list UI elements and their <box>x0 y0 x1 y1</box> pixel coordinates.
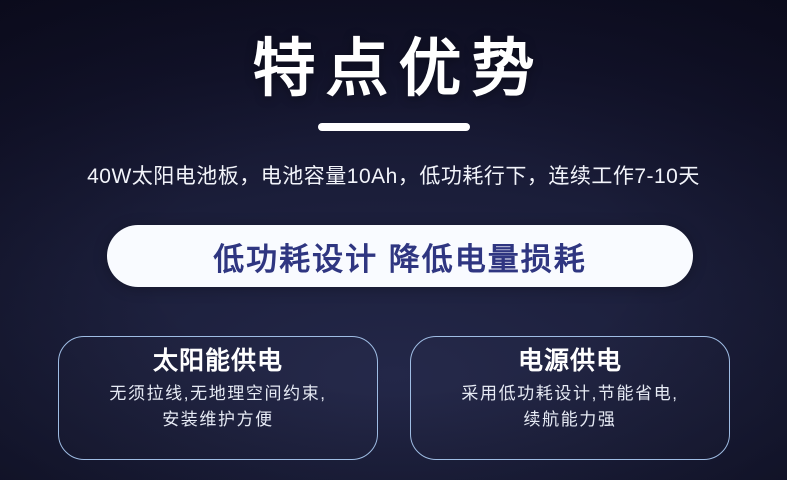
feature-card-title: 电源供电 <box>518 346 622 377</box>
page-title: 特点优势 <box>0 38 787 101</box>
subtitle-text: 40W太阳电池板，电池容量10Ah，低功耗行下，连续工作7-10天 <box>0 163 787 190</box>
feature-card-solar: 太阳能供电 无须拉线,无地理空间约束, 安装维护方便 <box>58 336 378 460</box>
highlight-pill: 低功耗设计 降低电量损耗 <box>107 225 693 287</box>
feature-card-mains: 电源供电 采用低功耗设计,节能省电, 续航能力强 <box>410 336 730 460</box>
title-underline-divider <box>318 123 470 131</box>
feature-card-title: 太阳能供电 <box>153 346 283 377</box>
feature-card-body: 采用低功耗设计,节能省电, 续航能力强 <box>461 381 678 432</box>
banner-content: 特点优势 40W太阳电池板，电池容量10Ah，低功耗行下，连续工作7-10天 低… <box>0 0 787 480</box>
feature-card-body-line-2: 续航能力强 <box>461 407 678 433</box>
feature-card-body-line-1: 无须拉线,无地理空间约束, <box>109 381 326 407</box>
highlight-pill-label: 低功耗设计 降低电量损耗 <box>213 234 587 279</box>
feature-card-body-line-1: 采用低功耗设计,节能省电, <box>461 381 678 407</box>
feature-card-list: 太阳能供电 无须拉线,无地理空间约束, 安装维护方便 电源供电 采用低功耗设计,… <box>58 336 730 460</box>
feature-card-body: 无须拉线,无地理空间约束, 安装维护方便 <box>109 381 326 432</box>
heading-block: 特点优势 <box>0 38 787 131</box>
feature-banner: 特点优势 40W太阳电池板，电池容量10Ah，低功耗行下，连续工作7-10天 低… <box>0 0 787 480</box>
feature-card-body-line-2: 安装维护方便 <box>109 407 326 433</box>
